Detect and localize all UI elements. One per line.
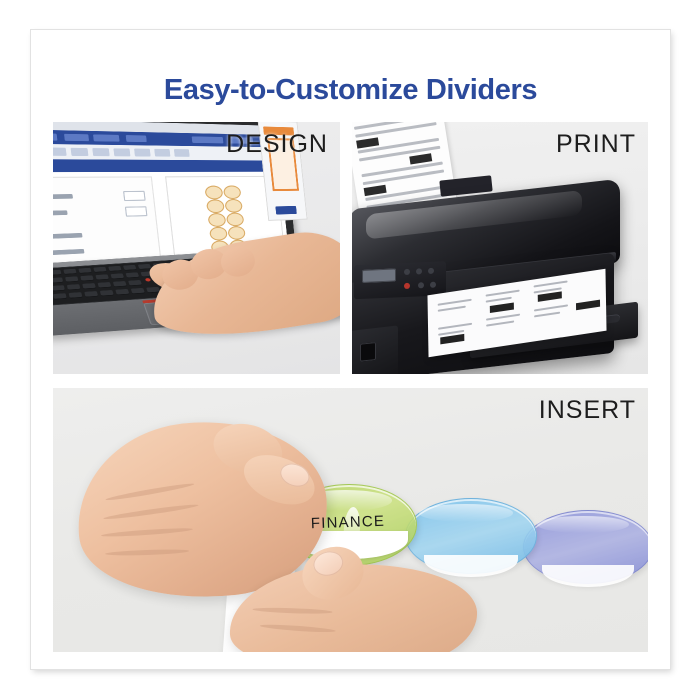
panel-label-insert: INSERT <box>539 396 636 425</box>
divider-tab-blue <box>405 498 537 574</box>
page-title: Easy-to-Customize Dividers <box>31 74 670 107</box>
trackpoint-nub[interactable] <box>145 278 151 282</box>
content-card: Easy-to-Customize Dividers <box>31 30 670 669</box>
panel-design[interactable]: DESIGN <box>53 122 340 374</box>
panel-insert[interactable]: FINANCE INSERT <box>53 388 648 652</box>
panel-label-print: PRINT <box>556 130 636 159</box>
memory-card-slot <box>360 342 376 362</box>
app-subnav <box>53 159 280 172</box>
panel-print[interactable]: PRINT <box>352 122 648 374</box>
divider-tab-purple <box>523 510 648 584</box>
panel-label-design: DESIGN <box>226 130 328 159</box>
product-feature-graphic: Easy-to-Customize Dividers <box>0 0 700 700</box>
preview-action-button[interactable] <box>275 206 296 215</box>
insert-illustration: FINANCE <box>53 388 648 652</box>
printer-lcd-display <box>362 268 396 282</box>
printer-illustration <box>352 122 648 374</box>
printer-front-bezel <box>352 325 398 374</box>
laptop-illustration <box>53 122 340 374</box>
